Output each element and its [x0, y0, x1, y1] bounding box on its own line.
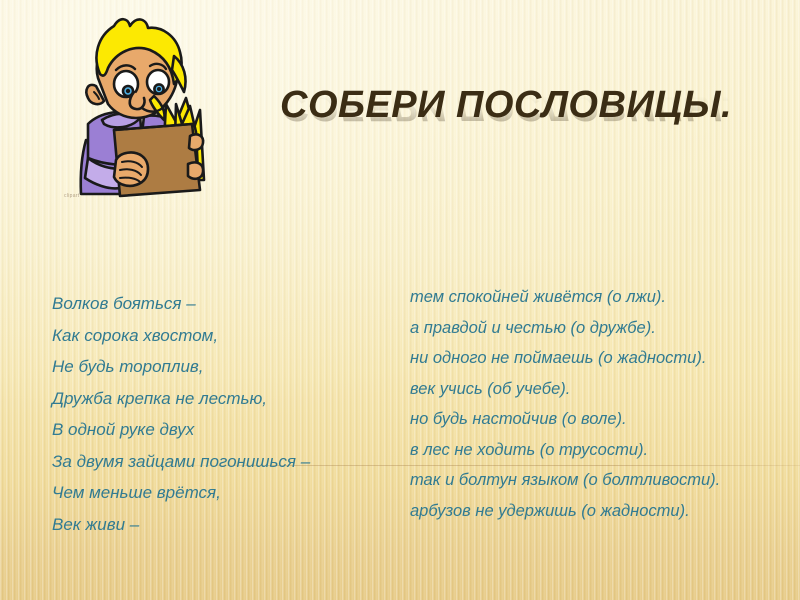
proverb-line: тем спокойней живётся (о лжи). [410, 282, 800, 313]
proverb-line: а правдой и честью (о дружбе). [410, 313, 800, 344]
proverb-line: ни одного не поймаешь (о жадности). [410, 343, 800, 374]
proverb-line: так и болтун языком (о болтливости). [410, 465, 800, 496]
proverb-line: в лес не ходить (о трусости). [410, 435, 800, 466]
proverb-line: Волков бояться – [52, 288, 402, 320]
proverb-line: Дружба крепка не лестью, [52, 383, 402, 415]
slide-canvas: СОБЕРИ ПОСЛОВИЦЫ. СОБЕРИ ПОСЛОВИЦЫ. Волк… [0, 0, 800, 600]
boy-reading-book-icon [58, 12, 233, 212]
clipart-watermark: clipart [64, 193, 124, 202]
proverb-beginnings-column: Волков бояться – Как сорока хвостом, Не … [52, 288, 402, 540]
proverb-line: За двумя зайцами погонишься – [52, 446, 402, 478]
proverb-line: век учись (об учебе). [410, 374, 800, 405]
page-title: СОБЕРИ ПОСЛОВИЦЫ. СОБЕРИ ПОСЛОВИЦЫ. [280, 86, 760, 164]
proverb-line: Чем меньше врётся, [52, 477, 402, 509]
proverb-line: Не будь тороплив, [52, 351, 402, 383]
proverb-line: В одной руке двух [52, 414, 402, 446]
proverb-endings-column: тем спокойней живётся (о лжи). а правдой… [410, 282, 800, 526]
proverb-line: Век живи – [52, 509, 402, 541]
proverb-line: арбузов не удержишь (о жадности). [410, 496, 800, 527]
proverb-line: но будь настойчив (о воле). [410, 404, 800, 435]
title-reflection: СОБЕРИ ПОСЛОВИЦЫ. [280, 88, 760, 126]
proverb-line: Как сорока хвостом, [52, 320, 402, 352]
